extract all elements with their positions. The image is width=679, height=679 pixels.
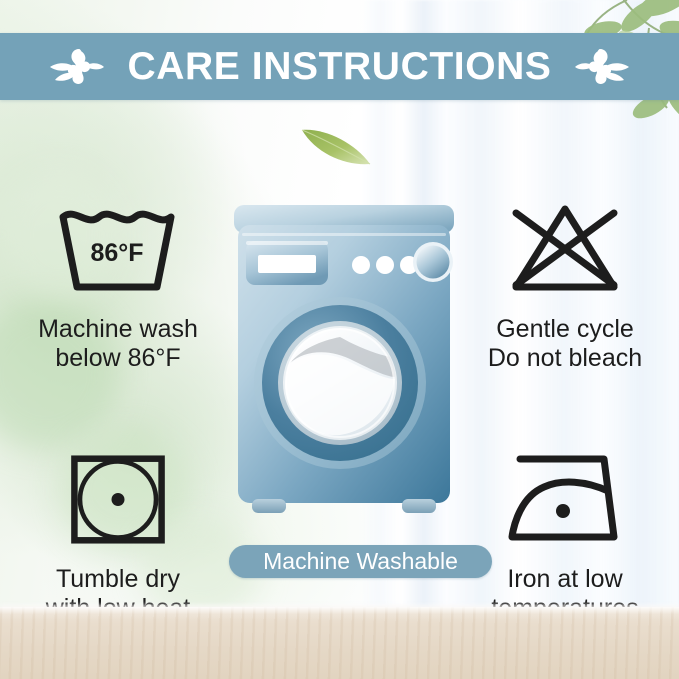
wooden-table-surface <box>0 607 679 679</box>
machine-foot <box>402 499 436 513</box>
machine-button <box>376 256 394 274</box>
floating-leaf-icon <box>298 122 374 170</box>
iron-one-dot-icon <box>500 443 630 555</box>
care-instructions-infographic: CARE INSTRUCTIONS <box>0 0 679 679</box>
care-symbol-iron-low: Iron at low temperatures <box>455 443 675 623</box>
fleur-de-lis-icon-left <box>49 45 105 89</box>
washing-machine-icon <box>228 203 460 533</box>
machine-foot <box>252 499 286 513</box>
badge-label: Machine Washable <box>263 550 458 573</box>
crossed-triangle-icon <box>500 193 630 305</box>
fleur-de-lis-icon-right <box>574 45 630 89</box>
care-symbol-machine-wash: 86°F Machine wash below 86°F <box>8 193 228 373</box>
tumble-dry-low-icon <box>67 443 169 555</box>
page-title: CARE INSTRUCTIONS <box>127 47 551 86</box>
care-symbol-caption: Gentle cycle Do not bleach <box>488 315 642 373</box>
care-symbol-tumble-dry: Tumble dry with low heat <box>8 443 228 623</box>
machine-button <box>352 256 370 274</box>
care-symbol-do-not-bleach: Gentle cycle Do not bleach <box>455 193 675 373</box>
machine-washable-badge: Machine Washable <box>229 545 492 578</box>
care-symbol-caption: Machine wash below 86°F <box>38 315 198 373</box>
wash-tub-icon: 86°F <box>53 193 183 305</box>
machine-dial <box>417 246 450 279</box>
wash-temperature-label: 86°F <box>90 239 143 267</box>
header-banner: CARE INSTRUCTIONS <box>0 33 679 100</box>
